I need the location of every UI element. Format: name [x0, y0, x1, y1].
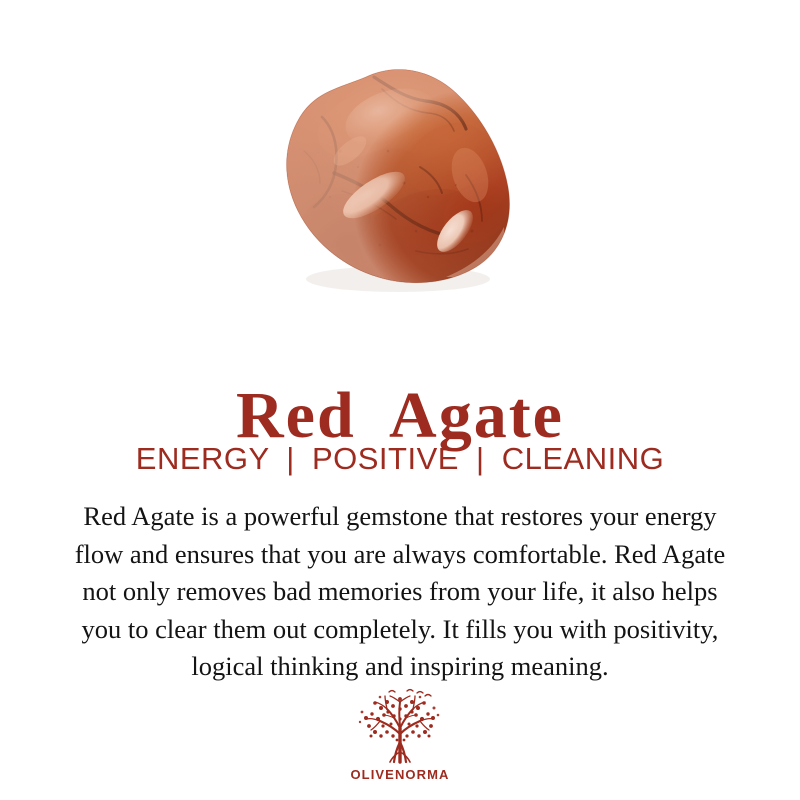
brand-name: OLIVENORMA [0, 767, 800, 782]
description-line-1: Red Agate is a powerful gemstone that re… [22, 498, 778, 536]
description-line-2: flow and ensures that you are always com… [22, 536, 778, 574]
brand-logo: OLIVENORMA [0, 688, 800, 782]
tree-birds [389, 690, 431, 697]
keyword-separator-2: | [468, 441, 493, 476]
keyword-cleaning: CLEANING [502, 441, 664, 476]
red-agate-stone-illustration [270, 55, 530, 295]
tree-of-life-icon [354, 688, 446, 766]
keyword-energy: ENERGY [136, 441, 269, 476]
keyword-positive: POSITIVE [312, 441, 459, 476]
description-text: Red Agate is a powerful gemstone that re… [22, 498, 778, 686]
description-line-4: you to clear them out completely. It fil… [22, 611, 778, 649]
description-line-3: not only removes bad memories from your … [22, 573, 778, 611]
description-line-5: logical thinking and inspiring meaning. [22, 648, 778, 686]
keyword-separator-1: | [278, 441, 303, 476]
product-info-card: Red Agate ENERGY | POSITIVE | CLEANING R… [0, 0, 800, 800]
keyword-list: ENERGY | POSITIVE | CLEANING [0, 440, 800, 478]
gemstone-image [0, 55, 800, 305]
stone-body [270, 55, 530, 295]
